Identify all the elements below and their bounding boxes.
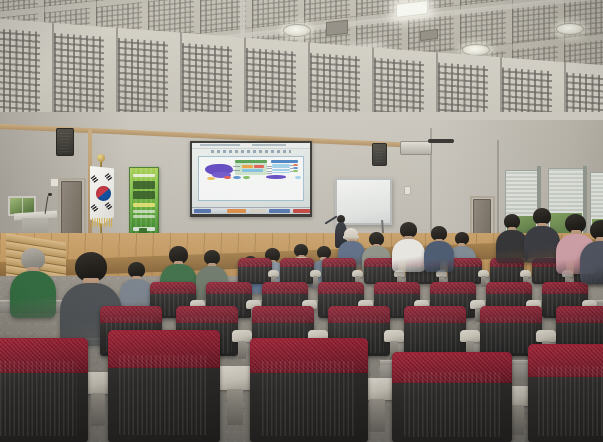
slide-node-c1 — [242, 165, 253, 168]
seat-back — [392, 352, 512, 442]
seat-headrest-trim — [0, 338, 88, 373]
seat-headrest-trim — [328, 306, 390, 323]
torso — [580, 241, 603, 284]
ceiling-vent — [326, 20, 348, 36]
banner-bn-sub-1 — [133, 210, 155, 213]
audience-member-a18 — [120, 262, 153, 312]
torso — [392, 239, 425, 273]
window-blind-2[interactable] — [549, 169, 583, 213]
seat-headrest-trim — [238, 258, 272, 267]
seat-headrest-trim — [528, 344, 603, 377]
seat-headrest-trim — [486, 282, 532, 294]
seat-back — [238, 258, 272, 284]
seat-headrest-trim — [556, 306, 603, 323]
seat[interactable] — [238, 258, 272, 284]
slide-header-center — [235, 160, 266, 162]
banner-bn-sub-2 — [133, 215, 155, 218]
slide-canvas — [198, 156, 304, 201]
slide-chip-b2 — [233, 176, 240, 179]
seat[interactable] — [392, 352, 512, 442]
seat-headrest-trim — [392, 352, 512, 383]
slide-connector-4 — [267, 171, 272, 172]
torso — [10, 271, 56, 318]
slide-title-text — [211, 150, 291, 153]
slide-ribbon-icons-2 — [252, 144, 286, 146]
audience-member-a16 — [580, 220, 603, 284]
banner-bn-title-1 — [133, 181, 155, 189]
slide-connector-6 — [290, 165, 293, 166]
seat-headrest-trim — [404, 306, 466, 323]
photo-root — [0, 0, 603, 442]
wall-speaker-left — [56, 128, 74, 156]
seat-back — [322, 258, 356, 284]
audience-member-a10 — [392, 222, 425, 272]
seat-headrest-trim — [176, 306, 238, 323]
slide-dot-r3 — [293, 170, 298, 172]
taskbar-tb-start[interactable] — [194, 209, 211, 213]
slide-flow-r4 — [272, 172, 290, 174]
armrest-post — [238, 341, 246, 359]
seat-headrest-trim — [150, 282, 196, 294]
torso — [424, 241, 454, 272]
slide-node-c3 — [242, 169, 264, 172]
slide-connector-2 — [267, 166, 272, 167]
ceiling-projector — [400, 141, 432, 155]
seat-back — [528, 344, 603, 442]
window-blind-3[interactable] — [591, 173, 603, 219]
seat-headrest-trim — [430, 282, 476, 294]
seat-headrest-trim — [480, 306, 542, 323]
armrest[interactable] — [216, 366, 254, 390]
seat-headrest-trim — [100, 306, 162, 323]
taskbar-tb-app-1[interactable] — [227, 209, 246, 213]
seat-headrest-trim — [280, 258, 314, 267]
seat-headrest-trim — [108, 330, 220, 368]
slide-connector-8 — [290, 171, 293, 172]
seat-headrest-trim — [374, 282, 420, 294]
slide-dot-r1 — [293, 164, 298, 166]
slide-flow-r2 — [272, 166, 290, 168]
seat[interactable] — [108, 330, 220, 442]
projection-surface — [192, 143, 310, 214]
seat-back — [0, 338, 88, 442]
slide-icon-br — [295, 176, 301, 179]
audience-member-a11 — [424, 226, 454, 272]
armrest-post — [91, 393, 105, 426]
seat[interactable] — [528, 344, 603, 442]
seat-back — [250, 338, 368, 442]
audience-member-a14 — [524, 208, 560, 263]
wall-switch-plate — [404, 186, 411, 195]
slide-node-c2 — [254, 165, 263, 168]
wall-speaker-right — [372, 143, 387, 166]
armrest-post — [227, 389, 242, 425]
slide-dot-r2 — [293, 167, 298, 169]
slide-flow-r1 — [272, 164, 290, 166]
round-light-3 — [556, 23, 584, 35]
seat-headrest-trim — [262, 282, 308, 294]
slide-connector-0 — [233, 166, 239, 167]
taskbar-tb-app-4[interactable] — [293, 209, 310, 213]
slide-connector-3 — [267, 168, 272, 169]
slide-header-right — [271, 160, 298, 162]
taskbar-tb-app-2[interactable] — [250, 209, 267, 213]
banner-bn-chip — [133, 203, 155, 207]
seat-headrest-trim — [322, 258, 356, 267]
slide-connector-1 — [233, 170, 239, 171]
seat[interactable] — [250, 338, 368, 442]
flag-fringe — [92, 218, 112, 227]
slide-ribbon-icons — [200, 144, 240, 146]
slide-connector-5 — [267, 173, 272, 174]
armrest-post — [369, 399, 384, 432]
seat-headrest-trim — [318, 282, 364, 294]
banner-bn-eyebrow — [133, 174, 155, 177]
slide-connector-7 — [290, 168, 293, 169]
seat-headrest-trim — [252, 306, 314, 323]
taeguk-symbol-icon — [96, 186, 111, 201]
banner-bn-title-2 — [133, 191, 155, 199]
seat-back — [108, 330, 220, 442]
standing-banner — [129, 167, 159, 237]
armrest-post — [510, 405, 524, 435]
round-light-1 — [283, 24, 311, 37]
slide-oval-bottom — [266, 175, 287, 179]
slide-flow-r3 — [272, 169, 290, 171]
microphone-icon — [48, 193, 52, 196]
os-taskbar[interactable] — [192, 207, 310, 214]
taskbar-tb-app-3[interactable] — [269, 209, 290, 213]
seat-back — [404, 306, 466, 356]
seat[interactable] — [322, 258, 356, 284]
slide-chip-b3 — [243, 176, 250, 179]
seat[interactable] — [280, 258, 314, 284]
seat[interactable] — [0, 338, 88, 442]
projection-screen — [190, 141, 312, 217]
audience-member-a1 — [10, 248, 56, 318]
seat-headrest-trim — [250, 338, 368, 373]
projector-cable — [428, 139, 454, 143]
flag-finial-icon — [97, 154, 105, 162]
torso — [524, 226, 560, 263]
seat[interactable] — [404, 306, 466, 356]
slide-icon-bl — [207, 177, 214, 180]
slide-chip-b1 — [224, 176, 231, 179]
seat-headrest-trim — [206, 282, 252, 294]
seat-back — [280, 258, 314, 284]
